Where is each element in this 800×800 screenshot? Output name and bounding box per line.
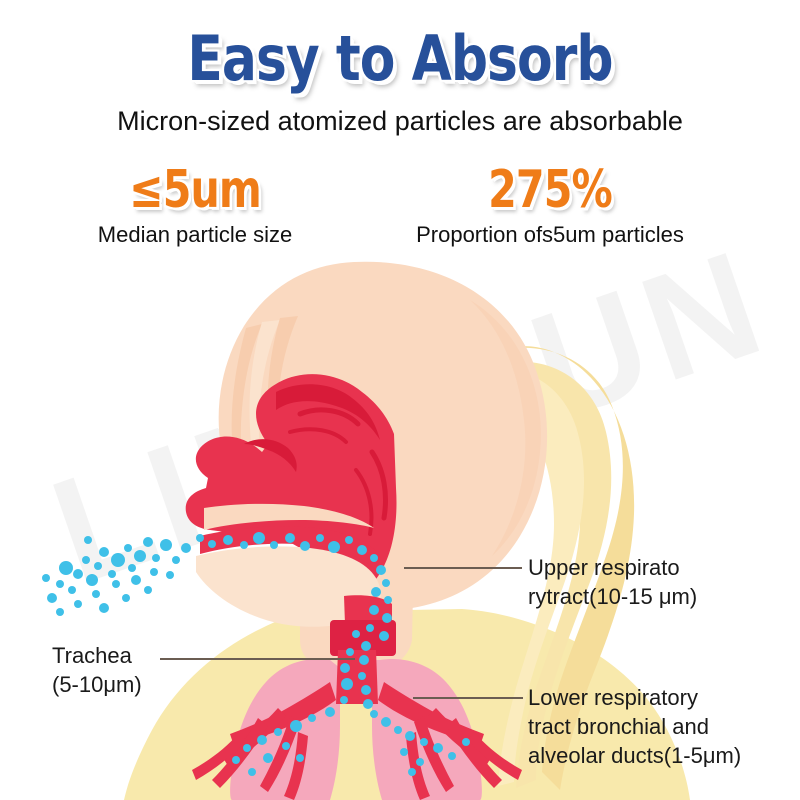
airway-shape xyxy=(186,374,397,656)
stat-caption: Proportion ofs5um particles xyxy=(385,222,715,248)
particle-spray xyxy=(42,534,204,616)
leader-line-upper-respiratory xyxy=(404,567,522,569)
stat-median-particle-size: ≤5um Median particle size xyxy=(30,163,360,248)
page-subtitle: Micron-sized atomized particles are abso… xyxy=(0,106,800,137)
infographic-canvas: LINGKUN Easy to Absorb Micron-sized atom… xyxy=(0,0,800,800)
stat-proportion-particles: 275% Proportion ofs5um particles xyxy=(385,163,715,248)
leader-line-trachea xyxy=(160,658,355,660)
stat-value: ≤5um xyxy=(50,163,340,218)
page-title: Easy to Absorb xyxy=(28,22,772,95)
stat-value: 275% xyxy=(405,163,695,218)
callout-lower-respiratory-tract: Lower respiratory tract bronchial and al… xyxy=(528,683,741,770)
leader-line-lower-respiratory xyxy=(413,697,523,699)
stat-caption: Median particle size xyxy=(30,222,360,248)
callout-upper-respiratory-tract: Upper respirato rytract(10-15 μm) xyxy=(528,553,697,611)
callout-trachea: Trachea (5-10μm) xyxy=(52,641,142,699)
